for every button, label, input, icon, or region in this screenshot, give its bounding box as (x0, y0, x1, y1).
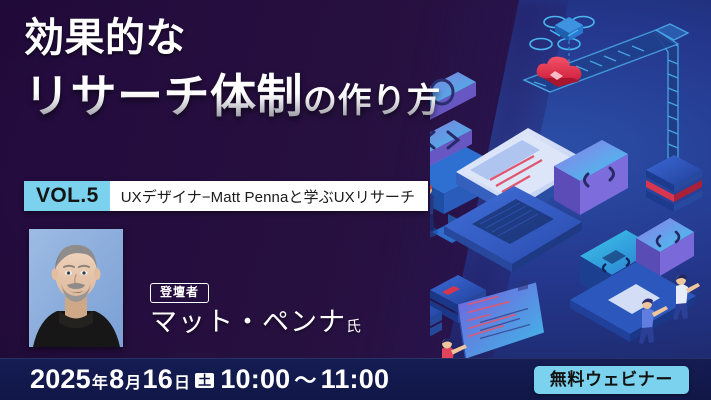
headline-line-2-tail: の作り方 (303, 82, 441, 120)
speaker-name: マット・ペンナ氏 (150, 308, 410, 336)
time-separator: 〜 (294, 370, 316, 392)
volume-number: VOL.5 (24, 181, 110, 211)
month-unit: 月 (125, 376, 141, 392)
year-unit: 年 (92, 376, 108, 392)
drone-icon (530, 17, 594, 63)
volume-bar: VOL.5 UXデザイナ−Matt Pennaと学ぶUXリサーチ (24, 181, 428, 211)
day-value: 16 (143, 366, 173, 393)
illustration-board-group (420, 175, 701, 365)
month-value: 8 (109, 366, 124, 393)
headline-line-2-main: リサーチ体制 (24, 70, 303, 122)
year-value: 2025 (30, 366, 91, 393)
speaker-name-text: マット・ペンナ (150, 307, 346, 337)
webinar-banner: 効果的な リサーチ体制の作り方 VOL.5 UXデザイナ−Matt Pennaと… (0, 0, 711, 400)
headline-line-2: リサーチ体制の作り方 (24, 72, 454, 121)
bottom-bar: 2025 年 8 月 16 日 土 10:00 〜 11:00 無料ウェビナー (0, 358, 711, 400)
headline-line-1: 効果的な (24, 18, 454, 58)
time-end: 11:00 (321, 366, 390, 393)
headline: 効果的な リサーチ体制の作り方 (24, 18, 454, 121)
speaker-info: 登壇者 マット・ペンナ氏 (150, 283, 410, 336)
speaker-tag: 登壇者 (150, 283, 209, 303)
weekday-badge: 土 (195, 373, 214, 388)
event-datetime: 2025 年 8 月 16 日 土 10:00 〜 11:00 (30, 366, 389, 393)
time-start: 10:00 (220, 366, 290, 393)
free-webinar-badge: 無料ウェビナー (534, 366, 689, 394)
day-unit: 日 (174, 376, 190, 392)
volume-subtitle: UXデザイナ−Matt Pennaと学ぶUXリサーチ (110, 181, 428, 211)
speaker-photo (29, 229, 123, 347)
speaker-name-suffix: 氏 (346, 318, 361, 335)
